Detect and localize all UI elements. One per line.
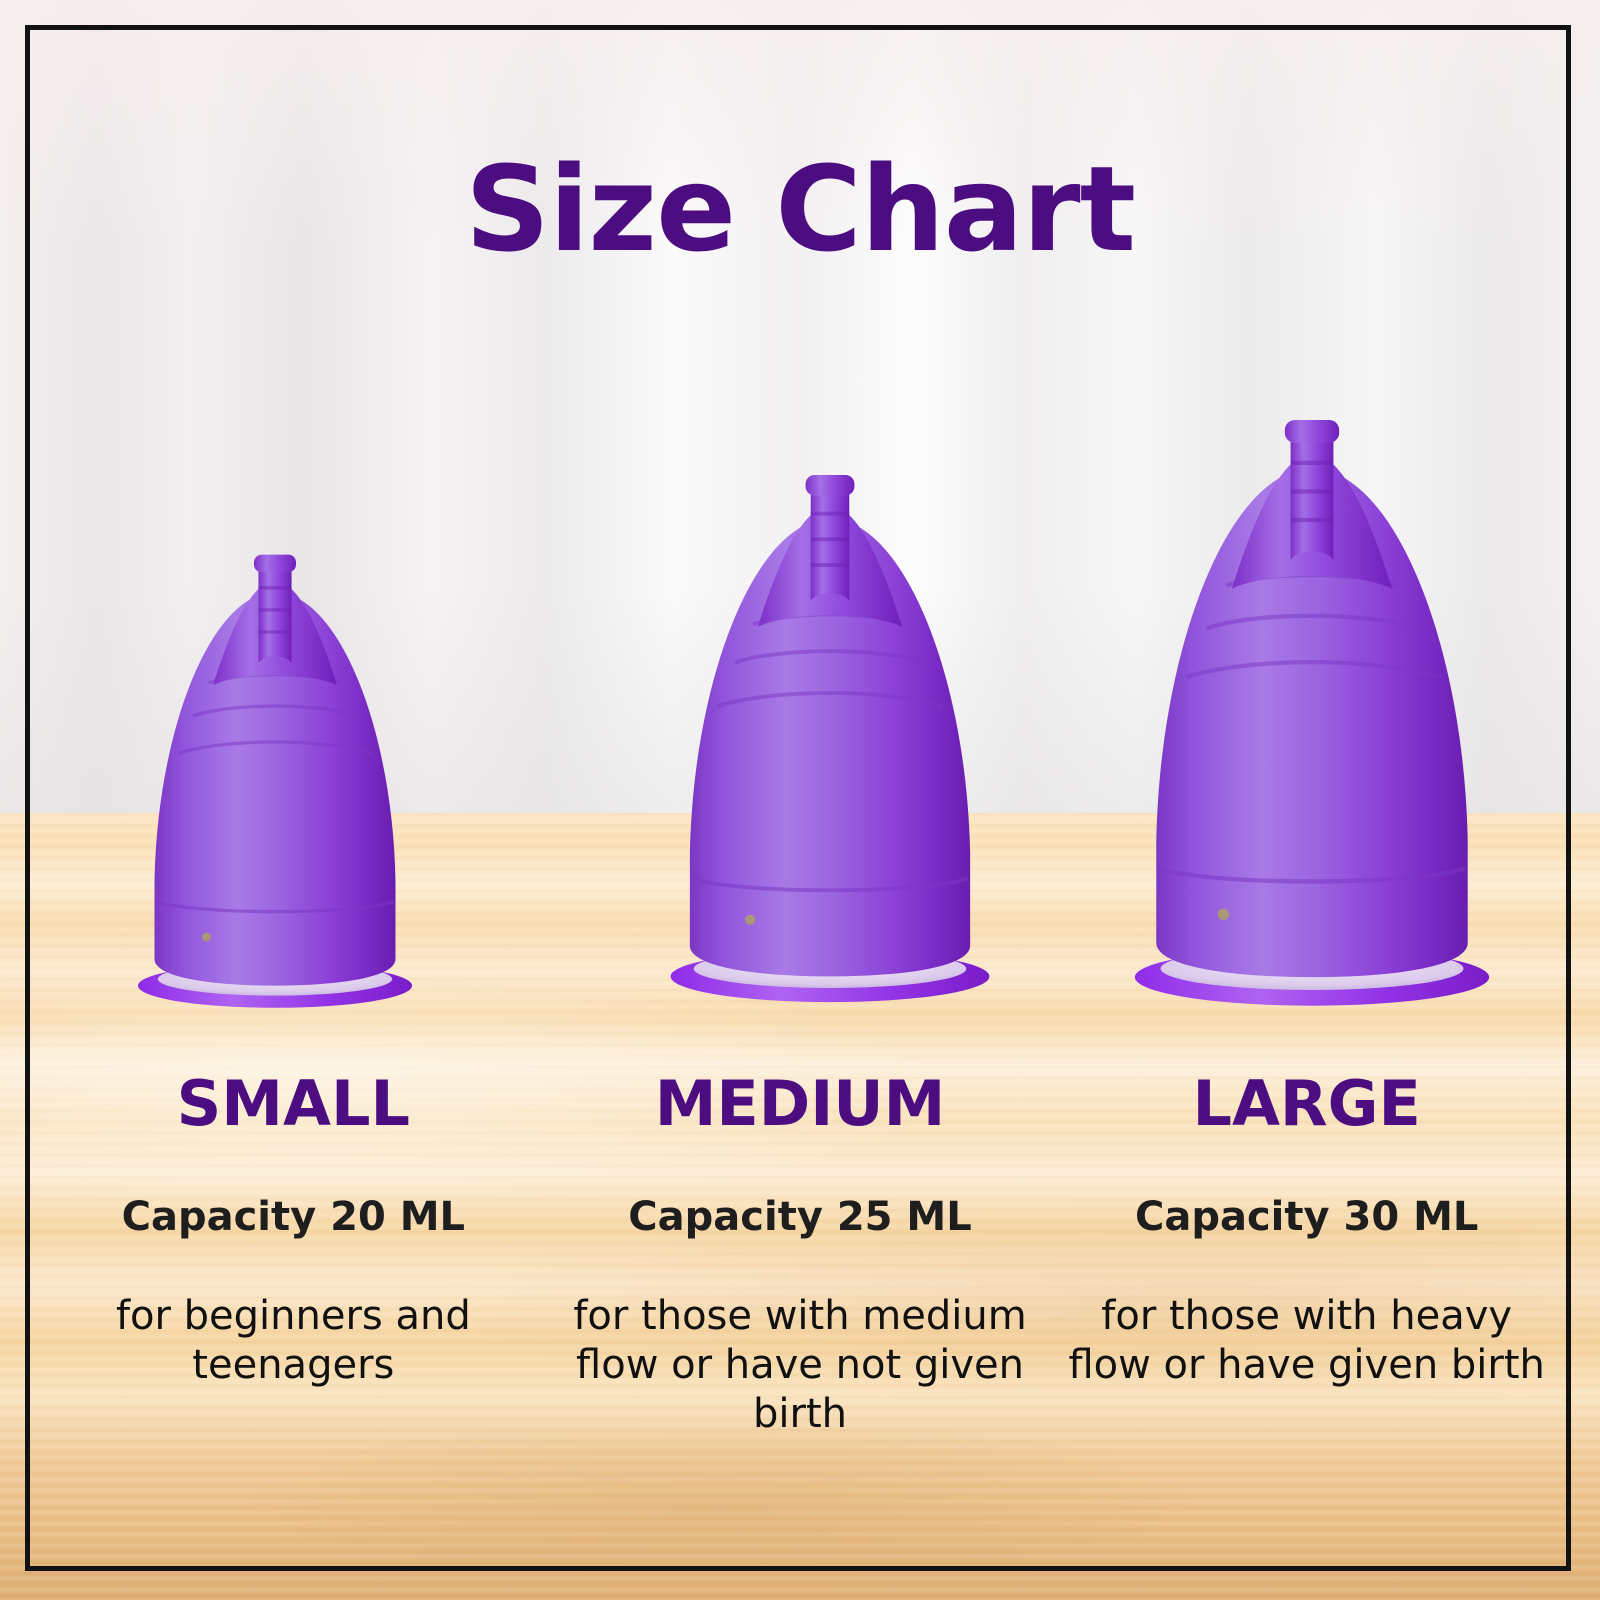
cup-image-small [120, 548, 430, 1010]
cup-stem-tip-medium [806, 475, 855, 496]
capacity-label-medium: Capacity 25 ML [561, 1195, 1040, 1239]
description-large: for those with heavy flow or have given … [1067, 1292, 1546, 1390]
size-chart-image: Size Chart [0, 0, 1600, 1600]
size-label-large: LARGE [1067, 1070, 1546, 1138]
cup-stem-large [1291, 437, 1334, 560]
description-small: for beginners and teenagers [54, 1292, 533, 1390]
cup-stem-tip-large [1285, 420, 1339, 443]
size-column-small: SMALL Capacity 20 ML for beginners and t… [40, 1070, 547, 1439]
size-column-medium: MEDIUM Capacity 25 ML for those with med… [547, 1070, 1054, 1439]
capacity-label-small: Capacity 20 ML [54, 1195, 533, 1239]
cup-image-medium [650, 466, 1010, 1006]
size-label-small: SMALL [54, 1070, 533, 1138]
cup-image-large [1112, 410, 1512, 1010]
page-title: Size Chart [0, 140, 1600, 278]
size-column-large: LARGE Capacity 30 ML for those with heav… [1053, 1070, 1560, 1439]
description-medium: for those with medium flow or have not g… [561, 1292, 1040, 1438]
cup-air-hole-medium [745, 915, 755, 925]
cup-air-hole-small [202, 933, 211, 942]
cup-air-hole-large [1218, 909, 1229, 920]
capacity-label-large: Capacity 30 ML [1067, 1195, 1546, 1239]
cup-stem-small [258, 568, 291, 663]
cup-stem-tip-small [254, 555, 296, 573]
size-label-medium: MEDIUM [561, 1070, 1040, 1138]
cup-stem-medium [811, 490, 850, 601]
size-columns: SMALL Capacity 20 ML for beginners and t… [40, 1070, 1560, 1439]
